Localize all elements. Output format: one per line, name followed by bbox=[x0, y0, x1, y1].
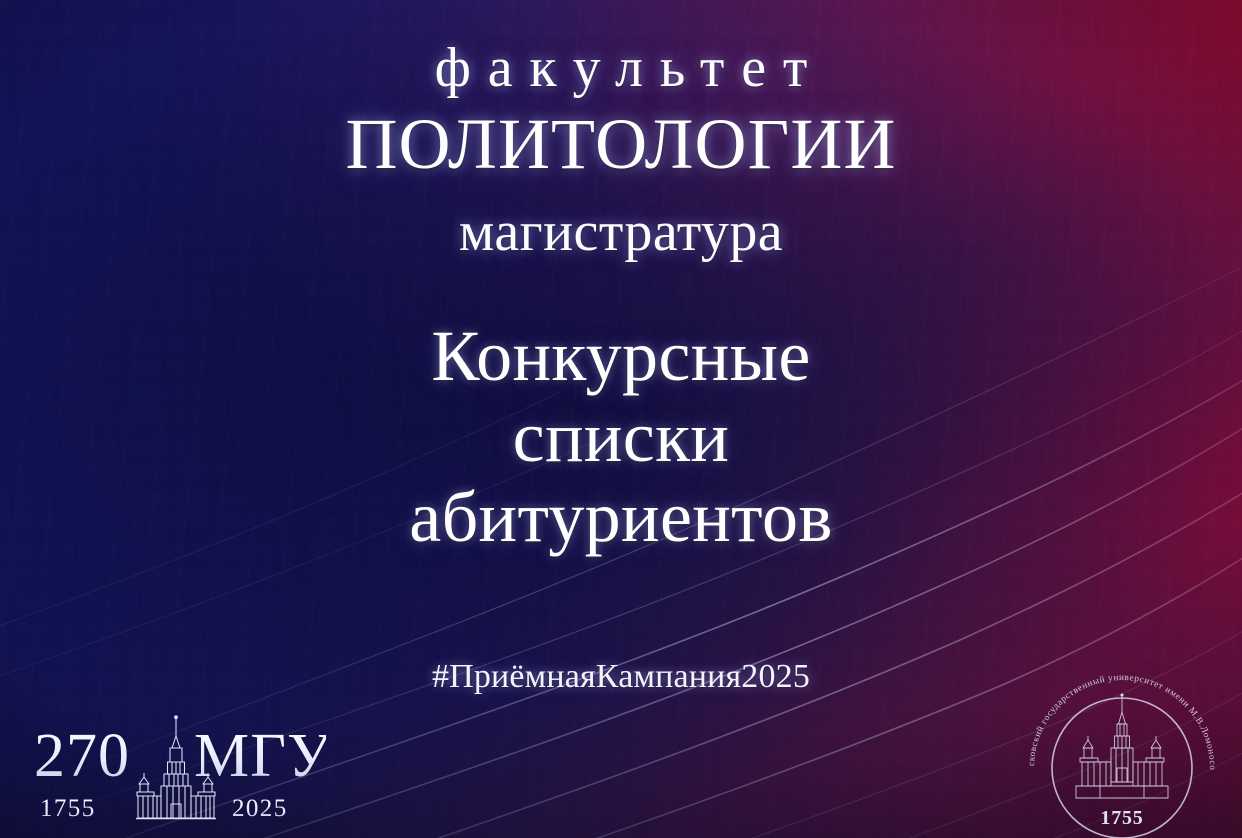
msu-main-building-seal-icon bbox=[1076, 694, 1168, 799]
university-abbreviation: МГУ bbox=[194, 722, 326, 790]
page-title-line-3: абитуриентов bbox=[0, 477, 1242, 558]
seal-founded-year: 1755 bbox=[1100, 807, 1143, 829]
page-title-line-2: списки bbox=[0, 397, 1242, 478]
faculty-label: факультет bbox=[0, 40, 1242, 96]
page-title: Конкурсные списки абитуриентов bbox=[0, 316, 1242, 558]
anniversary-logo: 270 МГУ 1755 2025 bbox=[26, 714, 326, 826]
msu-seal: Московский государственный университет и… bbox=[1016, 664, 1228, 838]
anniversary-year-from: 1755 bbox=[40, 795, 96, 822]
anniversary-number: 270 bbox=[34, 722, 130, 790]
page-title-line-1: Конкурсные bbox=[0, 316, 1242, 397]
slide-canvas: факультет ПОЛИТОЛОГИИ магистратура Конку… bbox=[0, 0, 1242, 838]
seal-circular-text: Московский государственный университет и… bbox=[1016, 664, 1218, 770]
faculty-name: ПОЛИТОЛОГИИ bbox=[0, 108, 1242, 180]
anniversary-year-to: 2025 bbox=[232, 795, 288, 822]
degree-level-label: магистратура bbox=[0, 204, 1242, 260]
